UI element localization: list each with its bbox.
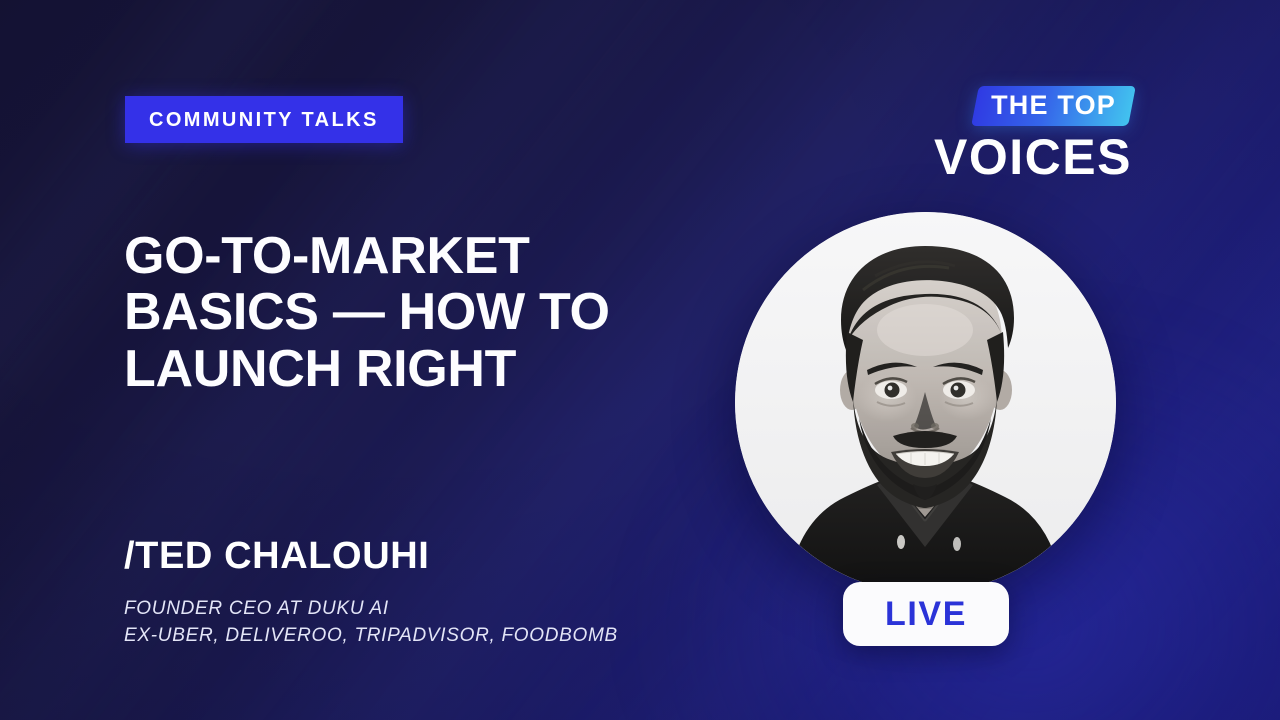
live-badge: LIVE bbox=[843, 582, 1009, 646]
brand-wordmark: VOICES bbox=[912, 132, 1132, 182]
live-badge-label: LIVE bbox=[885, 597, 967, 631]
brand-logo-pill-label: THE TOP bbox=[991, 92, 1116, 119]
brand-logo: THE TOP VOICES bbox=[912, 86, 1132, 182]
brand-logo-pill: THE TOP bbox=[971, 86, 1136, 126]
speaker-name: /TED CHALOUHI bbox=[124, 537, 429, 575]
page-title-line-2: BASICS — HOW TO bbox=[124, 284, 724, 340]
community-talks-badge-label: COMMUNITY TALKS bbox=[149, 110, 379, 130]
page-title-line-1: GO-TO-MARKET bbox=[124, 228, 724, 284]
speaker-portrait bbox=[735, 212, 1116, 593]
page-title: GO-TO-MARKET BASICS — HOW TO LAUNCH RIGH… bbox=[124, 228, 724, 397]
community-talks-badge: COMMUNITY TALKS bbox=[125, 96, 403, 143]
event-promo-slide: COMMUNITY TALKS GO-TO-MARKET BASICS — HO… bbox=[0, 0, 1280, 720]
speaker-credentials: FOUNDER CEO AT DUKU AI EX-UBER, DELIVERO… bbox=[124, 596, 618, 650]
speaker-history-line: EX-UBER, DELIVEROO, TRIPADVISOR, FOODBOM… bbox=[124, 623, 618, 650]
speaker-role-line: FOUNDER CEO AT DUKU AI bbox=[124, 596, 618, 623]
page-title-line-3: LAUNCH RIGHT bbox=[124, 341, 724, 397]
speaker-portrait-image bbox=[735, 212, 1116, 593]
